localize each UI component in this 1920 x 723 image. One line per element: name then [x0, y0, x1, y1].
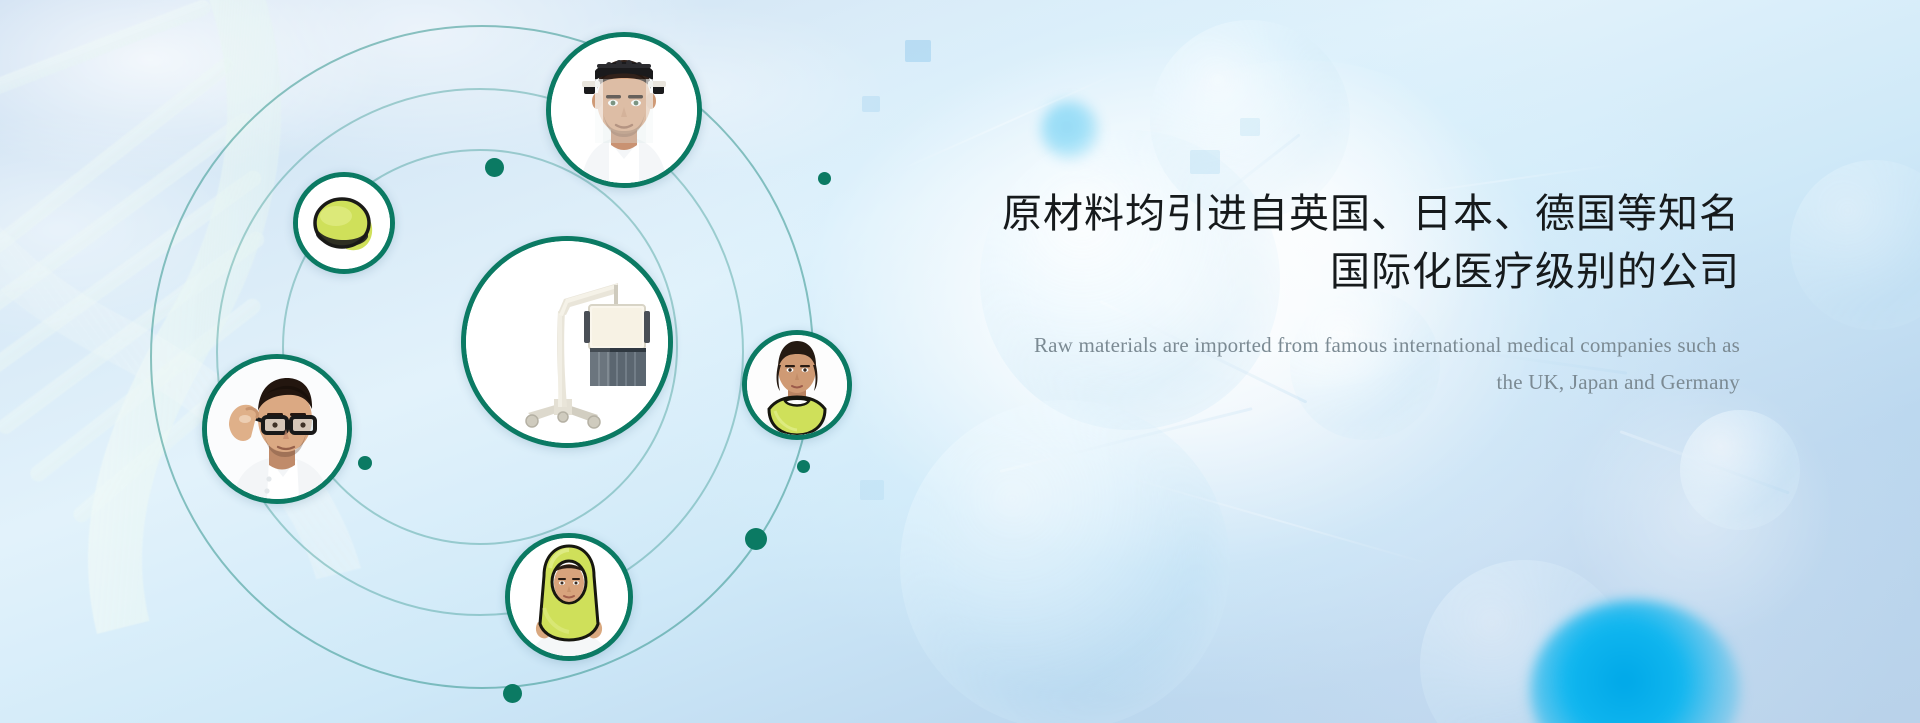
photo-woman-protective-hood	[510, 538, 628, 656]
bubble-mobile-screen[interactable]	[461, 236, 673, 448]
photo-man-face-shield	[551, 37, 697, 183]
orbit-node-dot-bottom	[503, 684, 522, 703]
bubble-protective-cap[interactable]	[293, 172, 395, 274]
bubble-protective-hood[interactable]	[505, 533, 633, 661]
banner-subtitle: Raw materials are imported from famous i…	[940, 327, 1740, 401]
orbit-node-dot-upper-right	[818, 172, 831, 185]
hero-banner: 原材料均引进自英国、日本、德国等知名 国际化医疗级别的公司 Raw materi…	[0, 0, 1920, 723]
subtitle-line-1: Raw materials are imported from famous i…	[940, 327, 1740, 364]
orbit-node-dot-top	[485, 158, 504, 177]
photo-woman-thyroid-collar	[747, 335, 847, 435]
banner-headline: 原材料均引进自英国、日本、德国等知名 国际化医疗级别的公司	[940, 185, 1740, 301]
headline-line-1: 原材料均引进自英国、日本、德国等知名	[1002, 191, 1740, 237]
bubble-thyroid-collar[interactable]	[742, 330, 852, 440]
photo-lead-protective-cap	[298, 177, 390, 269]
headline-line-2: 国际化医疗级别的公司	[940, 243, 1740, 301]
subtitle-line-2: the UK, Japan and Germany	[940, 364, 1740, 401]
photo-man-lead-glasses	[207, 359, 347, 499]
bubble-lead-glasses[interactable]	[202, 354, 352, 504]
orbit-node-dot-right	[797, 460, 810, 473]
bubble-face-shield[interactable]	[546, 32, 702, 188]
photo-mobile-radiation-screen	[466, 241, 668, 443]
orbit-node-dot-lower-right	[745, 528, 767, 550]
banner-copy: 原材料均引进自英国、日本、德国等知名 国际化医疗级别的公司 Raw materi…	[940, 185, 1740, 401]
orbit-node-dot-left	[358, 456, 372, 470]
